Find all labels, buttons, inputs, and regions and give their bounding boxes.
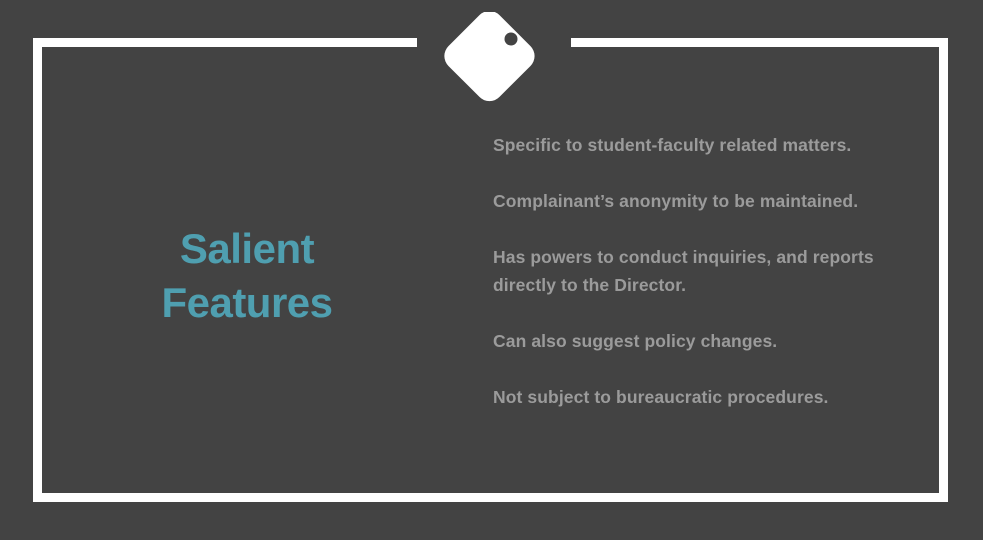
slide: Salient Features Specific to student-fac… <box>0 0 983 540</box>
list-item: Not subject to bureaucratic procedures. <box>493 383 925 411</box>
list-item: Specific to student-faculty related matt… <box>493 131 925 159</box>
page-title-line-2: Features <box>40 276 454 330</box>
list-item: Complainant’s anonymity to be maintained… <box>493 187 925 215</box>
tag-icon <box>443 12 543 110</box>
frame-border-bottom <box>33 493 948 502</box>
features-list: Specific to student-faculty related matt… <box>493 131 925 411</box>
frame-border-top-left <box>33 38 417 47</box>
page-title: Salient Features <box>40 222 454 330</box>
list-item: Can also suggest policy changes. <box>493 327 925 355</box>
page-title-line-1: Salient <box>40 222 454 276</box>
frame-border-top-right <box>571 38 948 47</box>
list-item: Has powers to conduct inquiries, and rep… <box>493 243 925 299</box>
frame-border-right <box>939 38 948 502</box>
